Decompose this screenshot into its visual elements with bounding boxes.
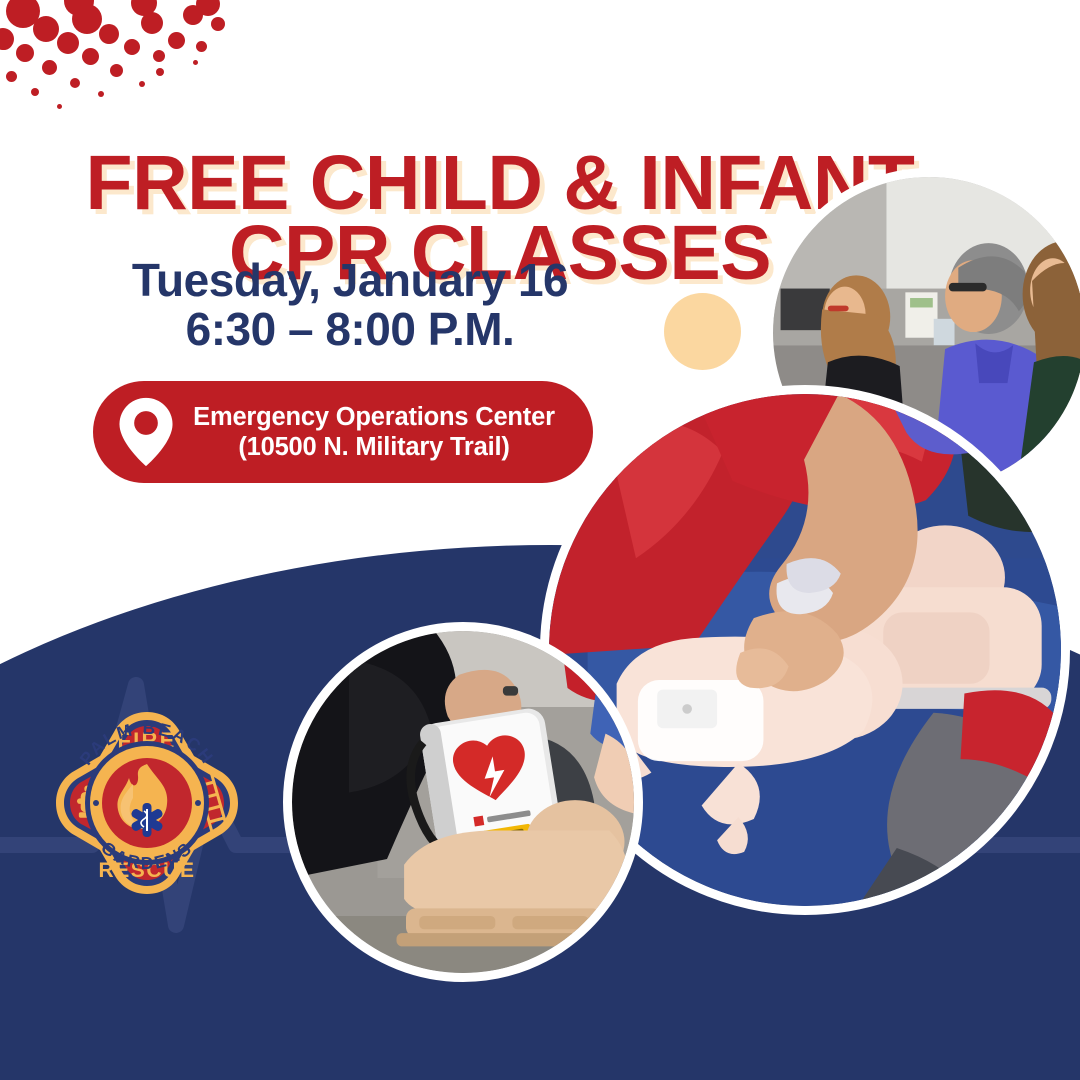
location-text: Emergency Operations Center (10500 N. Mi… [181,402,567,462]
red-dot-scatter [0,0,280,150]
schedule-block: Tuesday, January 16 6:30 – 8:00 P.M. [0,256,700,354]
event-date: Tuesday, January 16 [132,254,568,306]
map-pin-icon [115,396,177,468]
aed-trainer-photo [283,622,643,982]
location-pill[interactable]: Emergency Operations Center (10500 N. Mi… [93,381,593,483]
event-time: 6:30 – 8:00 P.M. [0,305,700,354]
fire-rescue-badge-logo: FIRE RESCUE [36,692,258,914]
venue-address: (10500 N. Military Trail) [181,432,567,462]
venue-name: Emergency Operations Center [181,402,567,432]
poster-canvas: FREE CHILD & INFANT CPR CLASSES Tuesday,… [0,0,1080,1080]
